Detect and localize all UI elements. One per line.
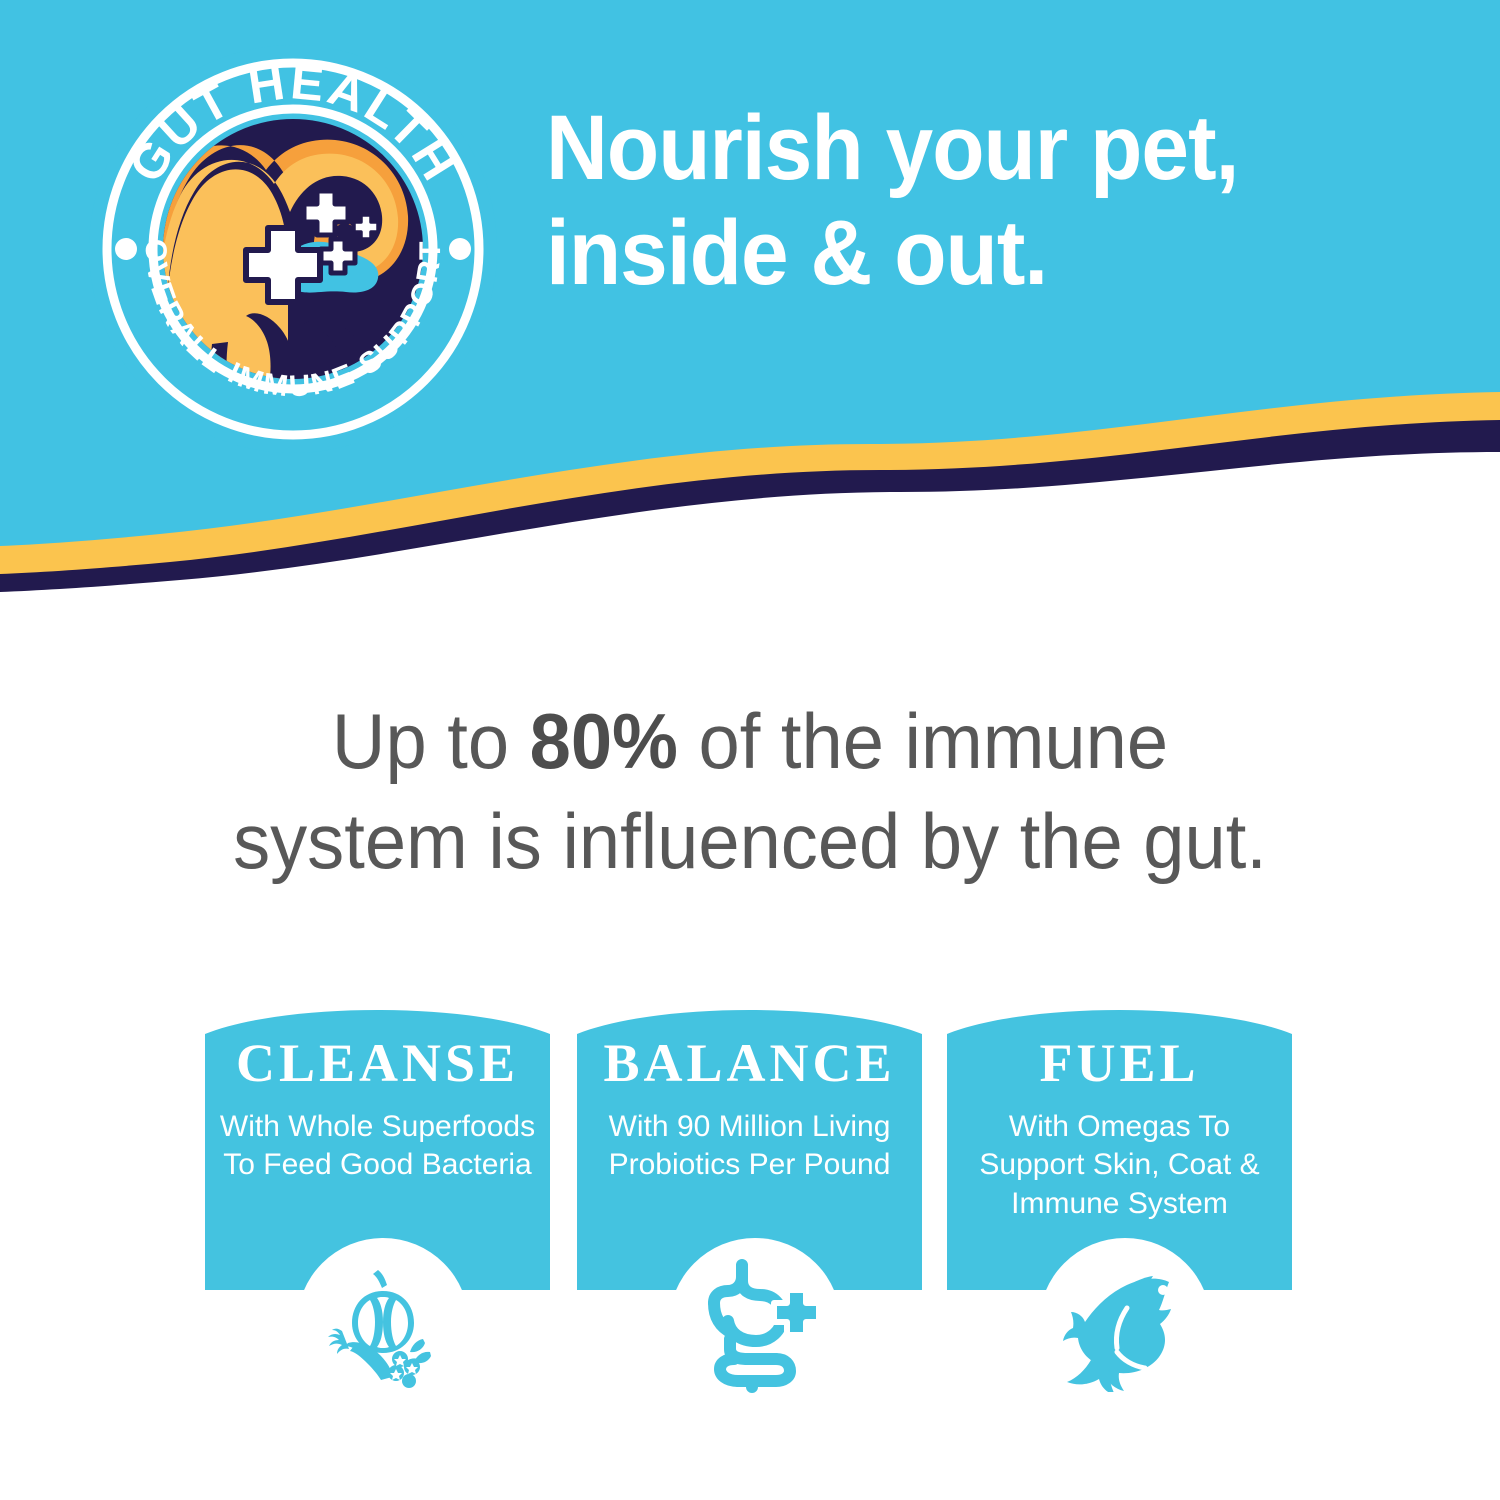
gut-health-badge: GUT HEALTH OVERALL IMMUNE SUPPORT [88, 44, 498, 454]
infographic-root: GUT HEALTH OVERALL IMMUNE SUPPORT Nouris… [0, 0, 1500, 1500]
headline: Nourish your pet, inside & out. [546, 96, 1364, 306]
headline-line-1: Nourish your pet, [546, 97, 1238, 199]
benefit-cards: CLEANSE With Whole Superfoods To Feed Go… [0, 1000, 1500, 1470]
card-subtitle: With Omegas To Support Skin, Coat & Immu… [961, 1108, 1278, 1223]
fish-eye [1158, 1285, 1168, 1295]
benefit-card-balance[interactable]: BALANCE With 90 Million Living Probiotic… [577, 1000, 922, 1420]
stat-emphasis: 80% [530, 697, 678, 785]
benefit-card-fuel[interactable]: FUEL With Omegas To Support Skin, Coat &… [947, 1000, 1292, 1420]
stat-line-2: system is influenced by the gut. [180, 792, 1320, 892]
headline-line-2: inside & out. [546, 201, 1364, 306]
pumpkin-carrot-berries-icon [297, 1238, 469, 1410]
card-subtitle: With Whole Superfoods To Feed Good Bacte… [219, 1108, 536, 1185]
badge-dot-left [115, 238, 137, 260]
card-title: BALANCE [577, 1036, 922, 1090]
card-title: FUEL [947, 1036, 1292, 1090]
card-subtitle: With 90 Million Living Probiotics Per Po… [591, 1108, 908, 1185]
stat-suffix: of the immune [678, 697, 1168, 785]
card-title: CLEANSE [205, 1036, 550, 1090]
stomach-intestine-cross-icon [669, 1238, 841, 1410]
fish-icon [1039, 1238, 1211, 1410]
stat-statement: Up to 80% of the immune system is influe… [180, 692, 1320, 892]
badge-dot-right [449, 238, 471, 260]
stat-prefix: Up to [332, 697, 530, 785]
header-banner: GUT HEALTH OVERALL IMMUNE SUPPORT Nouris… [0, 0, 1500, 640]
benefit-card-cleanse[interactable]: CLEANSE With Whole Superfoods To Feed Go… [205, 1000, 550, 1420]
